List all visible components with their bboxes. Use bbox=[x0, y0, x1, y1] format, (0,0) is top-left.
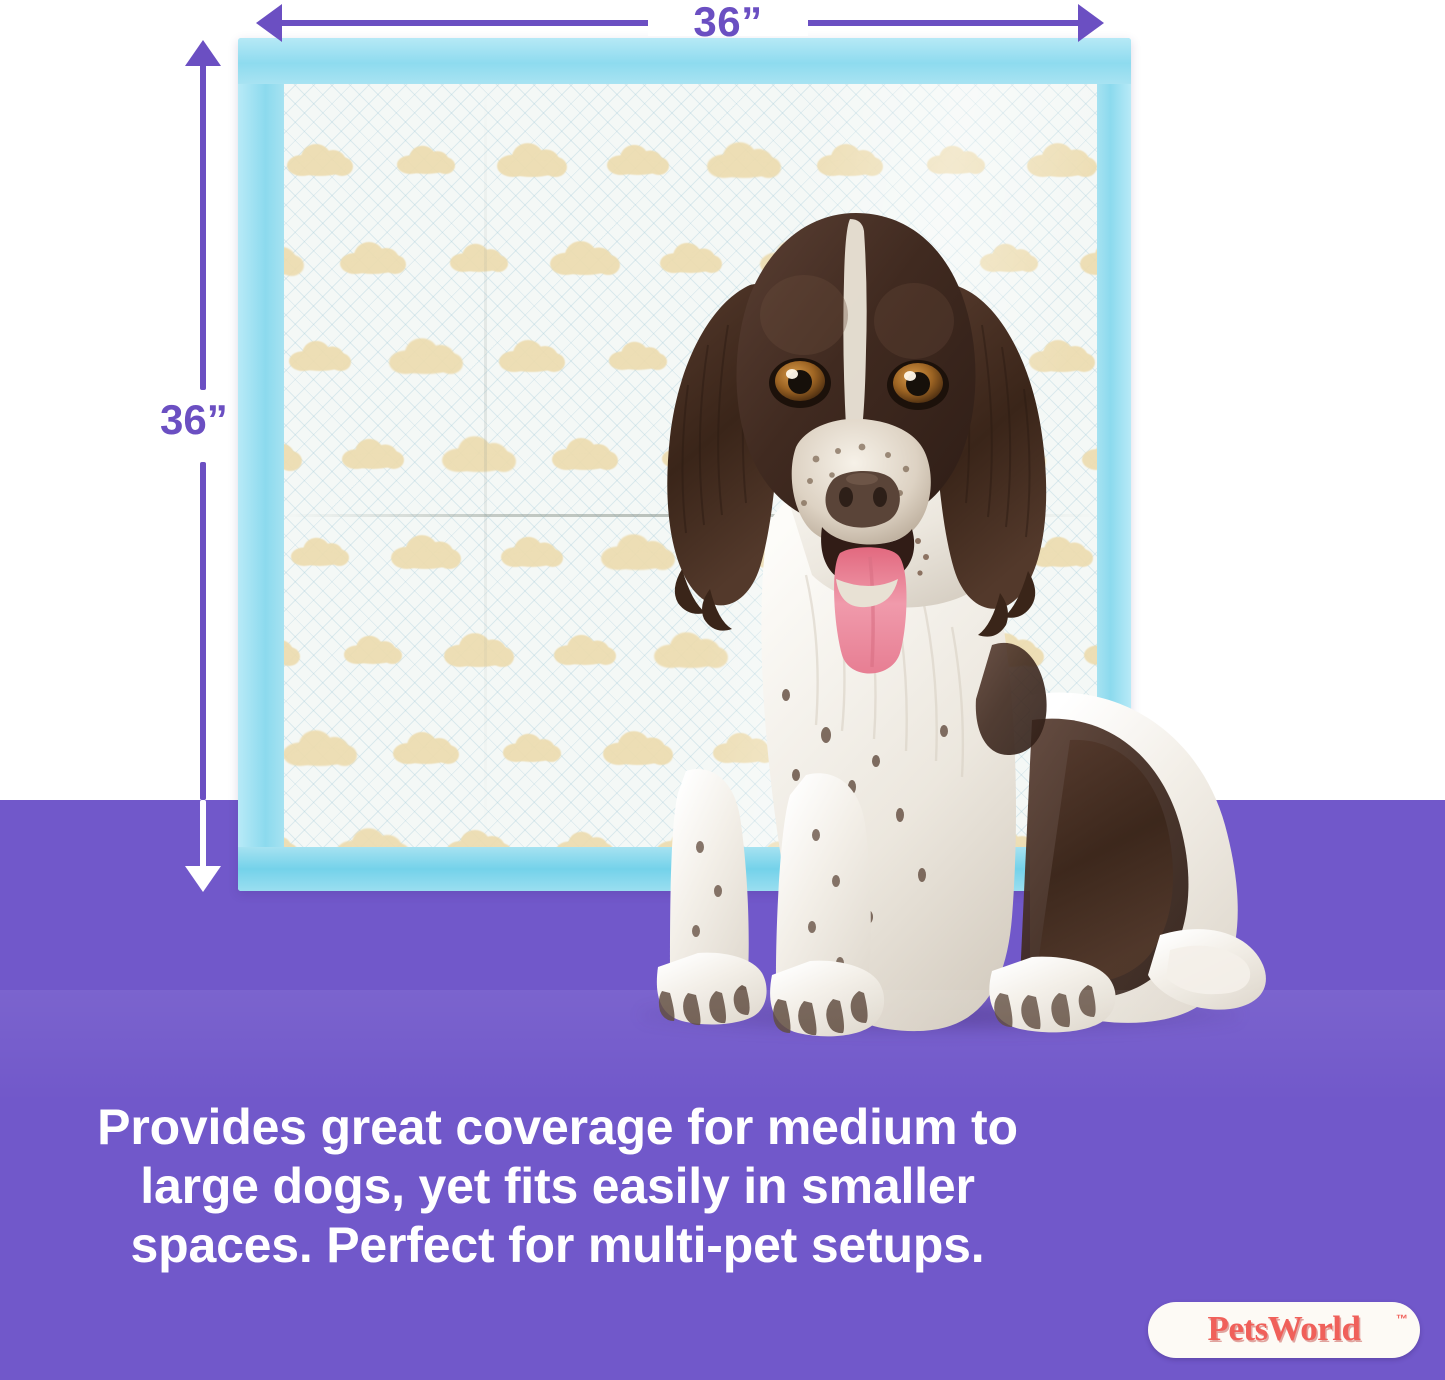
caption-line-2: large dogs, yet fits easily in smaller bbox=[0, 1157, 1115, 1216]
cloud-motif bbox=[442, 434, 516, 472]
cloud-motif bbox=[284, 728, 357, 766]
height-dimension-label: 36” bbox=[160, 396, 280, 444]
brand-name: PetsWorld bbox=[1208, 1309, 1361, 1349]
cloud-motif bbox=[503, 732, 561, 762]
cloud-motif bbox=[450, 242, 508, 272]
cloud-motif bbox=[446, 828, 512, 847]
cloud-motif bbox=[344, 634, 402, 664]
cloud-motif bbox=[336, 826, 410, 847]
arrow-head-down bbox=[185, 866, 221, 892]
pad-border-top bbox=[238, 38, 1131, 84]
cloud-motif bbox=[444, 631, 514, 667]
cloud-motif bbox=[340, 240, 406, 274]
cloud-motif bbox=[817, 142, 883, 176]
dimension-line-vertical-lower bbox=[200, 462, 206, 800]
product-image-canvas: 36” 36” Provides great coverage for medi… bbox=[0, 0, 1445, 1380]
cloud-motif bbox=[501, 535, 563, 567]
brand-logo: PetsWorld ™ bbox=[1148, 1302, 1420, 1358]
cloud-motif bbox=[927, 144, 985, 174]
springer-spaniel-dog bbox=[600, 175, 1280, 1040]
cloud-motif bbox=[397, 144, 455, 174]
cloud-motif bbox=[607, 143, 669, 175]
cloud-motif bbox=[287, 142, 353, 176]
cloud-motif bbox=[291, 536, 349, 566]
dimension-line-vertical-upper bbox=[200, 60, 206, 390]
cloud-motif bbox=[389, 336, 463, 374]
arrow-head-up bbox=[185, 40, 221, 66]
cloud-motif bbox=[342, 437, 404, 469]
cloud-motif bbox=[284, 632, 300, 666]
pad-fold-crease-vertical bbox=[484, 84, 487, 847]
arrow-head-left bbox=[256, 4, 282, 42]
pad-border-left bbox=[238, 38, 284, 891]
width-dimension-label: 36” bbox=[648, 0, 808, 44]
cloud-motif bbox=[707, 140, 781, 178]
caption-line-3: spaces. Perfect for multi-pet setups. bbox=[0, 1216, 1115, 1275]
dimension-line-vertical-overlay bbox=[200, 800, 206, 874]
marketing-caption: Provides great coverage for medium to la… bbox=[0, 1098, 1115, 1275]
cloud-motif bbox=[391, 533, 461, 569]
caption-line-1: Provides great coverage for medium to bbox=[0, 1098, 1115, 1157]
trademark-symbol: ™ bbox=[1396, 1312, 1408, 1326]
cloud-motif bbox=[1027, 141, 1097, 177]
cloud-motif bbox=[289, 339, 351, 371]
cloud-motif bbox=[499, 338, 565, 372]
cloud-motif bbox=[284, 238, 304, 276]
cloud-motif bbox=[284, 435, 302, 471]
arrow-head-right bbox=[1078, 4, 1104, 42]
cloud-motif bbox=[284, 829, 298, 847]
cloud-motif bbox=[497, 141, 567, 177]
cloud-motif bbox=[393, 730, 459, 764]
